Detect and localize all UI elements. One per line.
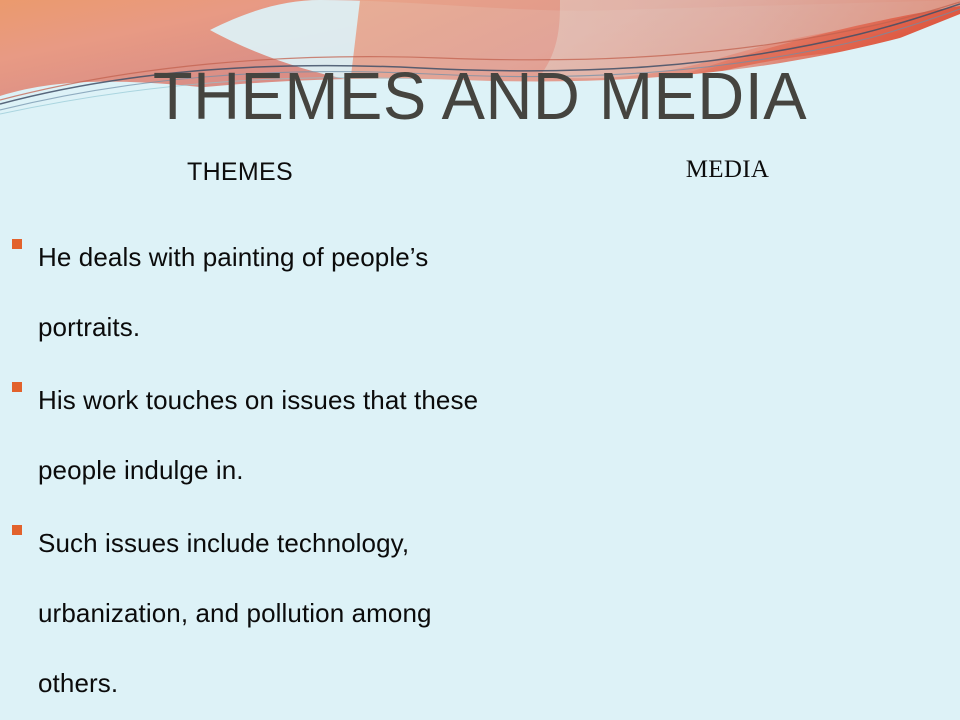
media-column-heading: MEDIA: [480, 157, 960, 182]
square-bullet-icon: [12, 239, 22, 249]
list-item: Such issues include technology, urbaniza…: [12, 508, 480, 718]
presentation-slide: THEMES AND MEDIA THEMES He deals with pa…: [0, 0, 960, 720]
list-item: He deals with painting of people’s portr…: [12, 222, 480, 362]
list-item-text: His work touches on issues that these pe…: [38, 365, 480, 505]
list-item-text: Such issues include technology, urbaniza…: [38, 508, 480, 718]
square-bullet-icon: [12, 525, 22, 535]
list-item: His work touches on issues that these pe…: [12, 365, 480, 505]
page-title: THEMES AND MEDIA: [14, 63, 945, 130]
themes-bullet-list: He deals with painting of people’s portr…: [12, 222, 480, 720]
square-bullet-icon: [12, 382, 22, 392]
themes-column-heading: THEMES: [0, 160, 480, 185]
list-item-text: He deals with painting of people’s portr…: [38, 222, 480, 362]
